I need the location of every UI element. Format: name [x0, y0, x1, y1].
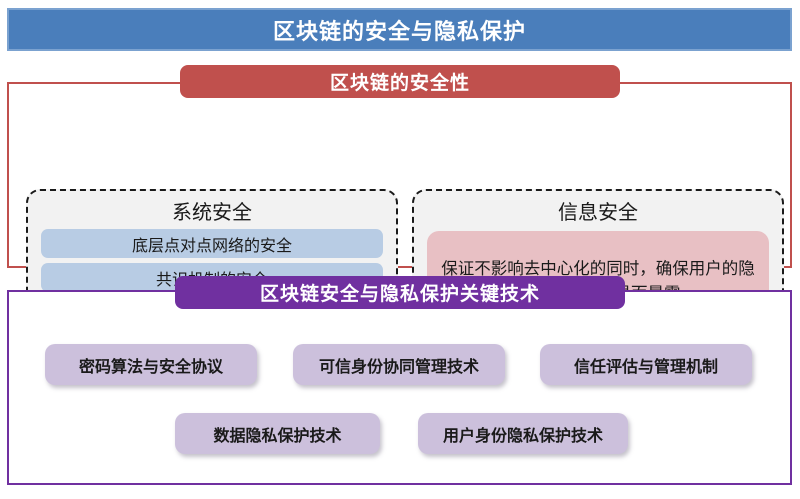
tech-tag[interactable]: 可信身份协同管理技术: [293, 344, 505, 385]
section-badge-key-technologies: 区块链安全与隐私保护关键技术: [175, 276, 625, 309]
panel-system-security-heading: 系统安全: [28, 197, 396, 227]
section-key-technologies: [7, 290, 792, 485]
page-title-bar: 区块链的安全与隐私保护: [7, 8, 792, 51]
tech-tag[interactable]: 数据隐私保护技术: [175, 413, 380, 454]
list-item[interactable]: 底层点对点网络的安全: [41, 229, 383, 258]
tech-tag[interactable]: 信任评估与管理机制: [540, 344, 752, 385]
page-title: 区块链的安全与隐私保护: [273, 14, 526, 46]
tech-tag[interactable]: 密码算法与安全协议: [45, 344, 257, 385]
section-badge-blockchain-security: 区块链的安全性: [180, 65, 620, 98]
panel-information-security-heading: 信息安全: [414, 197, 782, 227]
section-blockchain-security: 系统安全 底层点对点网络的安全 共识机制的安全 区块链上智能合约的安全 信息安全…: [7, 82, 792, 268]
tech-tag[interactable]: 用户身份隐私保护技术: [418, 413, 628, 454]
